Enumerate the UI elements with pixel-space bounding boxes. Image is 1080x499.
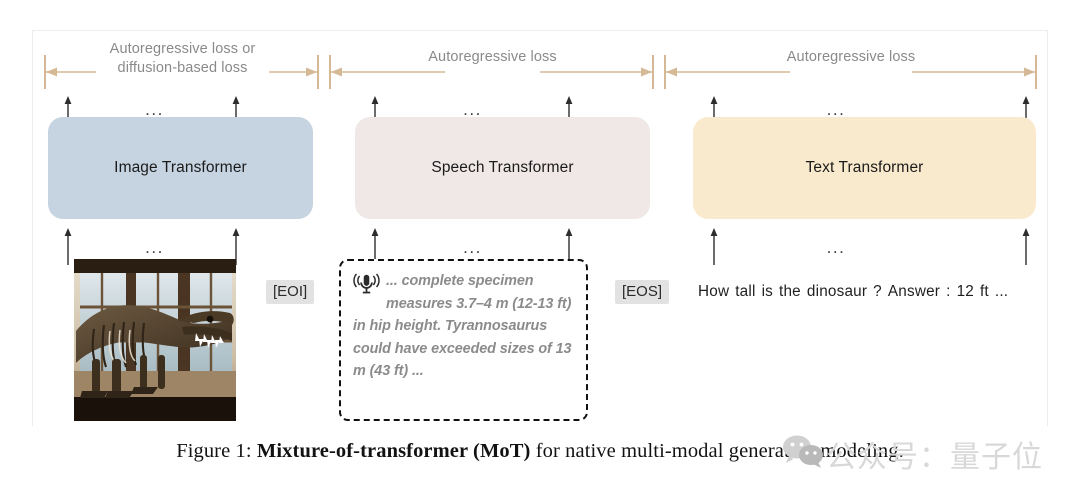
text-token: Answer (888, 283, 940, 300)
column-speech: Autoregressive loss ... Speech Transform… (325, 31, 660, 427)
input-row-image: [EOI] (40, 255, 325, 425)
loss-bracket-image: Autoregressive loss or diffusion-based l… (40, 45, 325, 99)
input-row-text: Howtallisthedinosaur?Answer:12ft... (660, 255, 1042, 425)
dinosaur-skeleton-illustration (74, 259, 236, 421)
caption-prefix: Figure 1: (176, 440, 252, 462)
ellipsis-bottom-image: ... (12, 239, 297, 256)
diagram-panel: Autoregressive loss or diffusion-based l… (32, 30, 1048, 426)
figure-caption: Figure 1: Mixture-of-transformer (MoT) f… (0, 440, 1080, 463)
speech-transformer-label: Speech Transformer (431, 159, 573, 177)
loss-label-image: Autoregressive loss or diffusion-based l… (40, 40, 325, 78)
figure-root: Autoregressive loss or diffusion-based l… (0, 0, 1080, 499)
ellipsis-top-image: ... (12, 101, 297, 118)
loss-bracket-speech: Autoregressive loss (325, 45, 660, 99)
loss-label-image-line1: Autoregressive loss or (103, 40, 263, 59)
image-transformer-box[interactable]: Image Transformer (48, 117, 313, 219)
text-token: : (946, 283, 950, 300)
loss-bracket-text: Autoregressive loss (660, 45, 1042, 99)
text-token: the (779, 283, 801, 300)
text-token: ? (873, 283, 882, 300)
text-transformer-label: Text Transformer (806, 159, 924, 177)
caption-rest: for native multi-modal generative modeli… (536, 440, 904, 462)
loss-label-image-line2: diffusion-based loss (111, 59, 255, 78)
text-token: How (698, 283, 729, 300)
text-token: 12 (957, 283, 974, 300)
ellipsis-top-speech: ... (305, 101, 640, 118)
image-transformer-label: Image Transformer (114, 159, 247, 177)
text-token: ft (980, 283, 989, 300)
loss-label-text: Autoregressive loss (660, 48, 1042, 67)
ellipsis-bottom-text: ... (645, 239, 1027, 256)
input-row-speech: ... complete specimen measures 3.7–4 m (… (325, 255, 660, 425)
loss-label-speech: Autoregressive loss (325, 48, 660, 67)
text-token-sequence: Howtallisthedinosaur?Answer:12ft... (698, 283, 1014, 301)
ellipsis-bottom-speech: ... (305, 239, 640, 256)
loss-label-text-text: Autoregressive loss (780, 48, 922, 67)
microphone-icon (353, 271, 380, 297)
speech-transcript-box[interactable]: ... complete specimen measures 3.7–4 m (… (339, 259, 588, 421)
text-token: ... (995, 283, 1008, 300)
text-transformer-box[interactable]: Text Transformer (693, 117, 1036, 219)
dinosaur-skeleton-photo[interactable] (74, 259, 236, 421)
speech-transformer-box[interactable]: Speech Transformer (355, 117, 650, 219)
speech-transcript-text: ... complete specimen measures 3.7–4 m (… (353, 273, 571, 379)
ellipsis-top-text: ... (645, 101, 1027, 118)
text-token: dinosaur (807, 283, 867, 300)
end-of-image-token: [EOI] (266, 280, 314, 304)
text-token: tall (735, 283, 755, 300)
loss-label-speech-text: Autoregressive loss (421, 48, 563, 67)
column-text: Autoregressive loss ... Text Transformer (660, 31, 1042, 427)
caption-title: Mixture-of-transformer (MoT) (257, 440, 531, 462)
text-token: is (762, 283, 773, 300)
column-image: Autoregressive loss or diffusion-based l… (40, 31, 325, 427)
